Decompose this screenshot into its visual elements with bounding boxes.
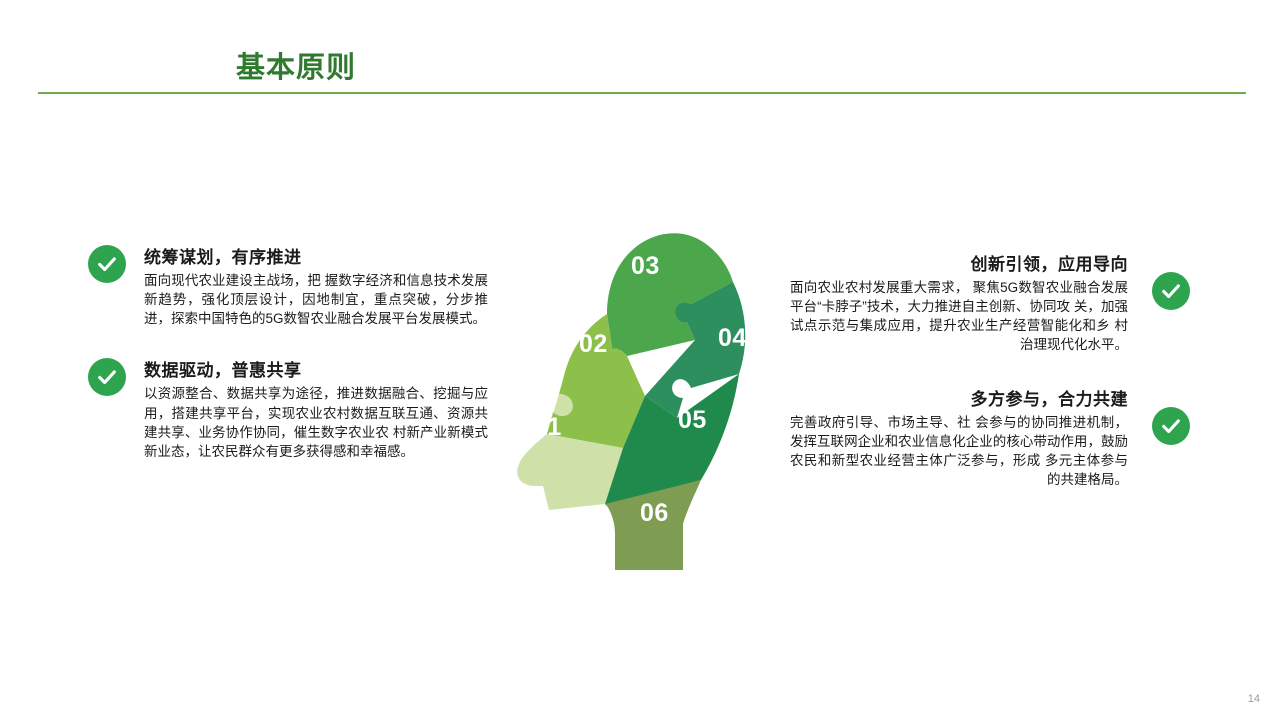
- principle-text: 以资源整合、数据共享为途径，推进数据融合、挖掘与应用，搭建共享平台，实现农业农村…: [144, 384, 488, 461]
- page-number: 14: [1248, 693, 1260, 705]
- principle-text: 面向农业农村发展重大需求， 聚焦5G数智农业融合发展平台“卡脖子”技术，大力推进…: [790, 278, 1128, 355]
- check-circle-icon: [88, 245, 126, 283]
- principle-title: 统筹谋划，有序推进: [144, 243, 488, 268]
- title-divider: [38, 92, 1246, 94]
- principle-text: 完善政府引导、市场主导、社 会参与的协同推进机制，发挥互联网企业和农业信息化企业…: [790, 413, 1128, 490]
- principle-text: 面向现代农业建设主战场，把 握数字经济和信息技术发展新趋势，强化顶层设计，因地制…: [144, 271, 488, 328]
- principle-block-1: 统筹谋划，有序推进 面向现代农业建设主战场，把 握数字经济和信息技术发展新趋势，…: [88, 243, 488, 328]
- head-puzzle-diagram: 03 02 04 01 05 06: [495, 218, 795, 578]
- principle-title: 数据驱动，普惠共享: [144, 356, 488, 381]
- principle-block-3: 创新引领，应用导向 面向农业农村发展重大需求， 聚焦5G数智农业融合发展平台“卡…: [790, 250, 1190, 355]
- check-circle-icon: [1152, 407, 1190, 445]
- right-content-column: 创新引领，应用导向 面向农业农村发展重大需求， 聚焦5G数智农业融合发展平台“卡…: [790, 250, 1190, 519]
- left-content-column: 统筹谋划，有序推进 面向现代农业建设主战场，把 握数字经济和信息技术发展新趋势，…: [88, 243, 488, 489]
- principle-block-4: 多方参与，合力共建 完善政府引导、市场主导、社 会参与的协同推进机制，发挥互联网…: [790, 385, 1190, 490]
- principle-title: 多方参与，合力共建: [790, 385, 1128, 410]
- principle-title: 创新引领，应用导向: [790, 250, 1128, 275]
- check-circle-icon: [88, 358, 126, 396]
- check-circle-icon: [1152, 272, 1190, 310]
- principle-block-2: 数据驱动，普惠共享 以资源整合、数据共享为途径，推进数据融合、挖掘与应用，搭建共…: [88, 356, 488, 461]
- page-title: 基本原则: [236, 44, 356, 86]
- slide: 基本原则 统筹谋划，有序推进 面向现代农业建设主战场，把 握数字经济和信息技术发…: [0, 0, 1280, 719]
